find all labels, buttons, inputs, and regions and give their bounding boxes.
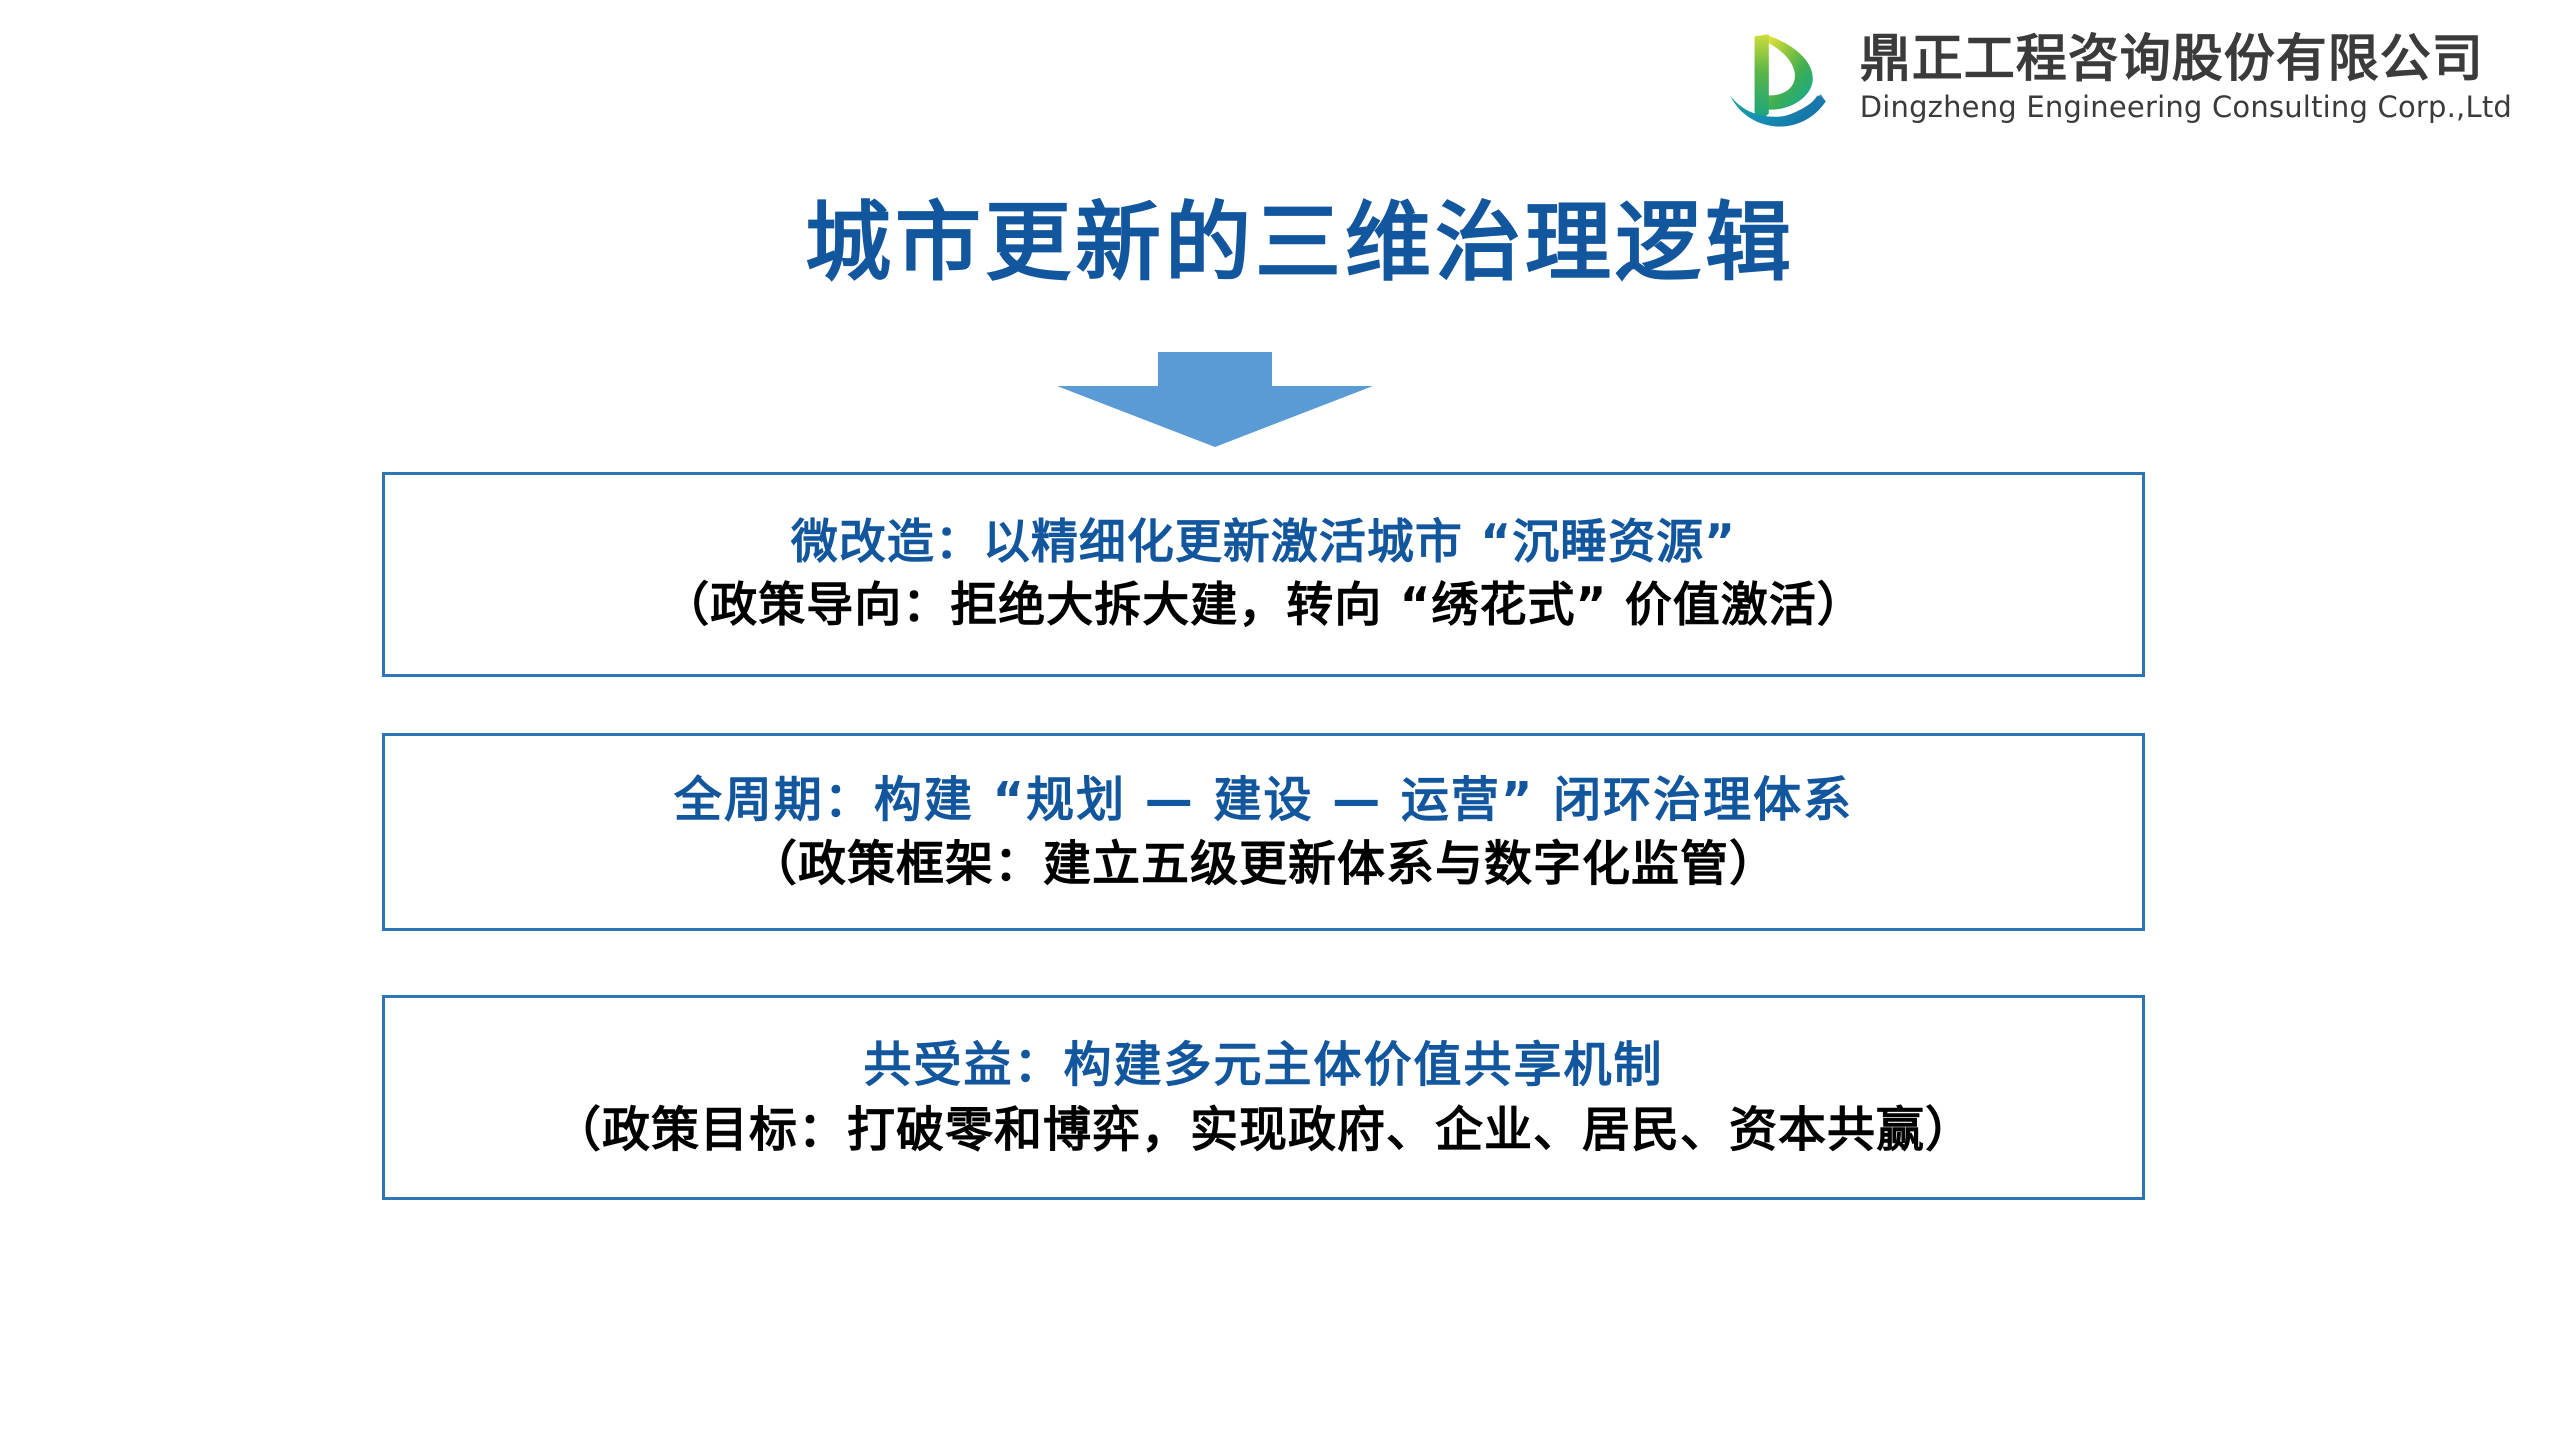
page-title: 城市更新的三维治理逻辑	[0, 196, 2560, 291]
box-2-secondary-line: （政策框架：建立五级更新体系与数字化监管）	[749, 832, 1778, 896]
box-1-secondary-line: （政策导向：拒绝大拆大建，转向 “绣花式” 价值激活）	[662, 575, 1865, 638]
concept-box-shared-benefit: 共受益：构建多元主体价值共享机制 （政策目标：打破零和博弈，实现政府、企业、居民…	[382, 995, 2145, 1200]
company-name-cn: 鼎正工程咨询股份有限公司	[1860, 32, 2512, 87]
concept-box-micro-renewal: 微改造：以精细化更新激活城市 “沉睡资源” （政策导向：拒绝大拆大建，转向 “绣…	[382, 472, 2145, 677]
down-arrow-icon	[1055, 350, 1375, 450]
company-name-en: Dingzheng Engineering Consulting Corp.,L…	[1860, 89, 2512, 125]
concept-box-full-cycle: 全周期：构建 “规划 — 建设 — 运营” 闭环治理体系 （政策框架：建立五级更…	[382, 733, 2145, 931]
box-1-primary-line: 微改造：以精细化更新激活城市 “沉睡资源”	[791, 512, 1736, 575]
box-3-secondary-line: （政策目标：打破零和博弈，实现政府、企业、居民、资本共赢）	[553, 1098, 1974, 1162]
brand-text-block: 鼎正工程咨询股份有限公司 Dingzheng Engineering Consu…	[1860, 28, 2512, 125]
company-brand: 鼎正工程咨询股份有限公司 Dingzheng Engineering Consu…	[1720, 16, 2512, 138]
dingzheng-leaf-logo-icon	[1720, 16, 1842, 138]
box-3-primary-line: 共受益：构建多元主体价值共享机制	[863, 1033, 1663, 1097]
box-2-primary-line: 全周期：构建 “规划 — 建设 — 运营” 闭环治理体系	[674, 768, 1853, 832]
